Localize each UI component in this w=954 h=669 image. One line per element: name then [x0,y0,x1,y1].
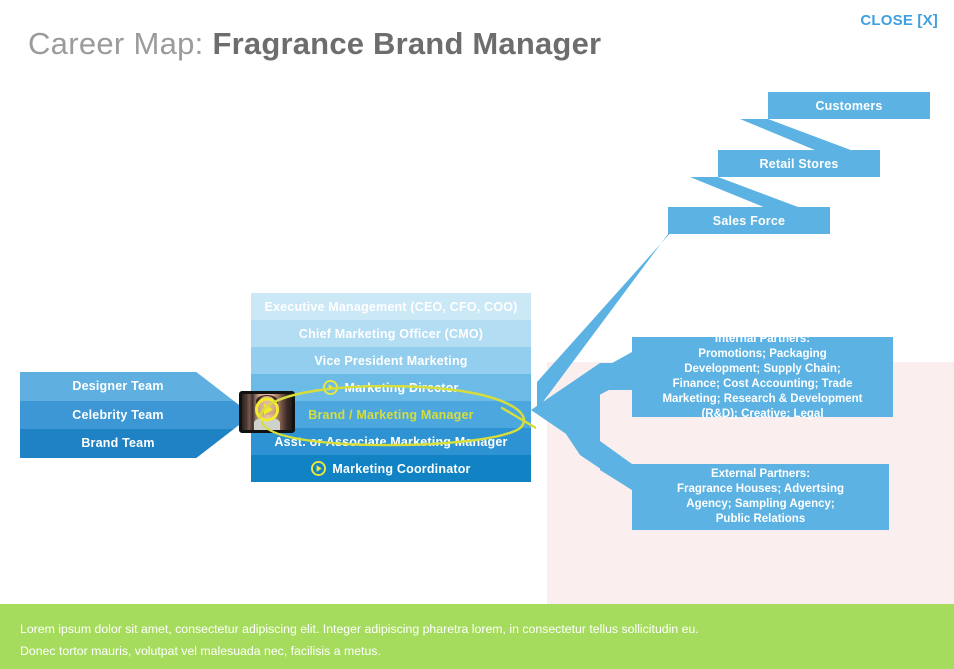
ladder-rung-chief-marketing-officer[interactable]: Chief Marketing Officer (CMO) [251,320,531,347]
ladder-rung-vice-president-marketing[interactable]: Vice President Marketing [251,347,531,374]
page-title-prefix: Career Map: [28,26,213,61]
internal-partners-line-4: Marketing; Research & Development [640,392,885,407]
internal-partners-line-5: (R&D); Creative; Legal [640,407,885,422]
flow-box-external-partners[interactable]: External Partners: Fragrance Houses; Adv… [632,464,889,530]
ladder-rung-3-label: Marketing Director [344,381,458,395]
play-icon[interactable] [254,397,280,428]
external-partners-line-1: Fragrance Houses; Advertsing [640,482,881,497]
team-row-designer-label: Designer Team [72,379,163,393]
flow-box-internal-partners[interactable]: Internal Partners: Promotions; Packaging… [632,337,893,417]
flow-box-retail-stores[interactable]: Retail Stores [718,150,880,177]
ladder-rung-0-label: Executive Management (CEO, CFO, COO) [264,300,517,314]
team-row-celebrity-label: Celebrity Team [72,408,164,422]
team-row-designer[interactable]: Designer Team [20,372,252,401]
ribbon-external-stub [600,441,632,490]
ladder-rung-5-label: Asst. or Associate Marketing Manager [274,435,507,449]
team-row-brand[interactable]: Brand Team [20,429,252,458]
team-row-celebrity[interactable]: Celebrity Team [20,401,252,430]
brand-manager-video-thumbnail[interactable] [239,391,295,433]
ladder-rung-1-label: Chief Marketing Officer (CMO) [299,327,483,341]
page-title: Career Map: Fragrance Brand Manager [28,26,601,62]
teams-arrow-clip: Designer Team Celebrity Team Brand Team [20,372,252,458]
external-partners-line-3: Public Relations [640,512,881,527]
footer-line-2: Donec tortor mauris, volutpat vel malesu… [20,643,934,660]
play-icon[interactable] [311,461,326,476]
flow-box-customers[interactable]: Customers [768,92,930,119]
internal-partners-heading: Internal Partners: [640,332,885,347]
career-ladder: Executive Management (CEO, CFO, COO) Chi… [251,293,531,482]
internal-partners-line-3: Finance; Cost Accounting; Trade [640,377,885,392]
ladder-rung-4-label: Brand / Marketing Manager [308,408,473,422]
external-partners-heading: External Partners: [640,467,881,482]
play-icon[interactable] [323,380,338,395]
ladder-rung-executive-management[interactable]: Executive Management (CEO, CFO, COO) [251,293,531,320]
career-map-canvas: CLOSE [X] Career Map: Fragrance Brand Ma… [0,0,954,669]
close-button[interactable]: CLOSE [X] [860,12,938,29]
internal-partners-line-1: Promotions; Packaging [640,347,885,362]
page-title-role: Fragrance Brand Manager [213,26,602,61]
ladder-rung-marketing-coordinator[interactable]: Marketing Coordinator [251,455,531,482]
footer-line-1: Lorem ipsum dolor sit amet, consectetur … [20,621,934,638]
internal-partners-line-2: Development; Supply Chain; [640,362,885,377]
footer-bar: Lorem ipsum dolor sit amet, consectetur … [0,604,954,669]
ladder-rung-6-label: Marketing Coordinator [332,462,470,476]
flow-box-sales-force[interactable]: Sales Force [668,207,830,234]
team-row-brand-label: Brand Team [81,436,154,450]
teams-arrow-panel: Designer Team Celebrity Team Brand Team [20,372,252,458]
ladder-rung-2-label: Vice President Marketing [314,354,467,368]
external-partners-line-2: Agency; Sampling Agency; [640,497,881,512]
